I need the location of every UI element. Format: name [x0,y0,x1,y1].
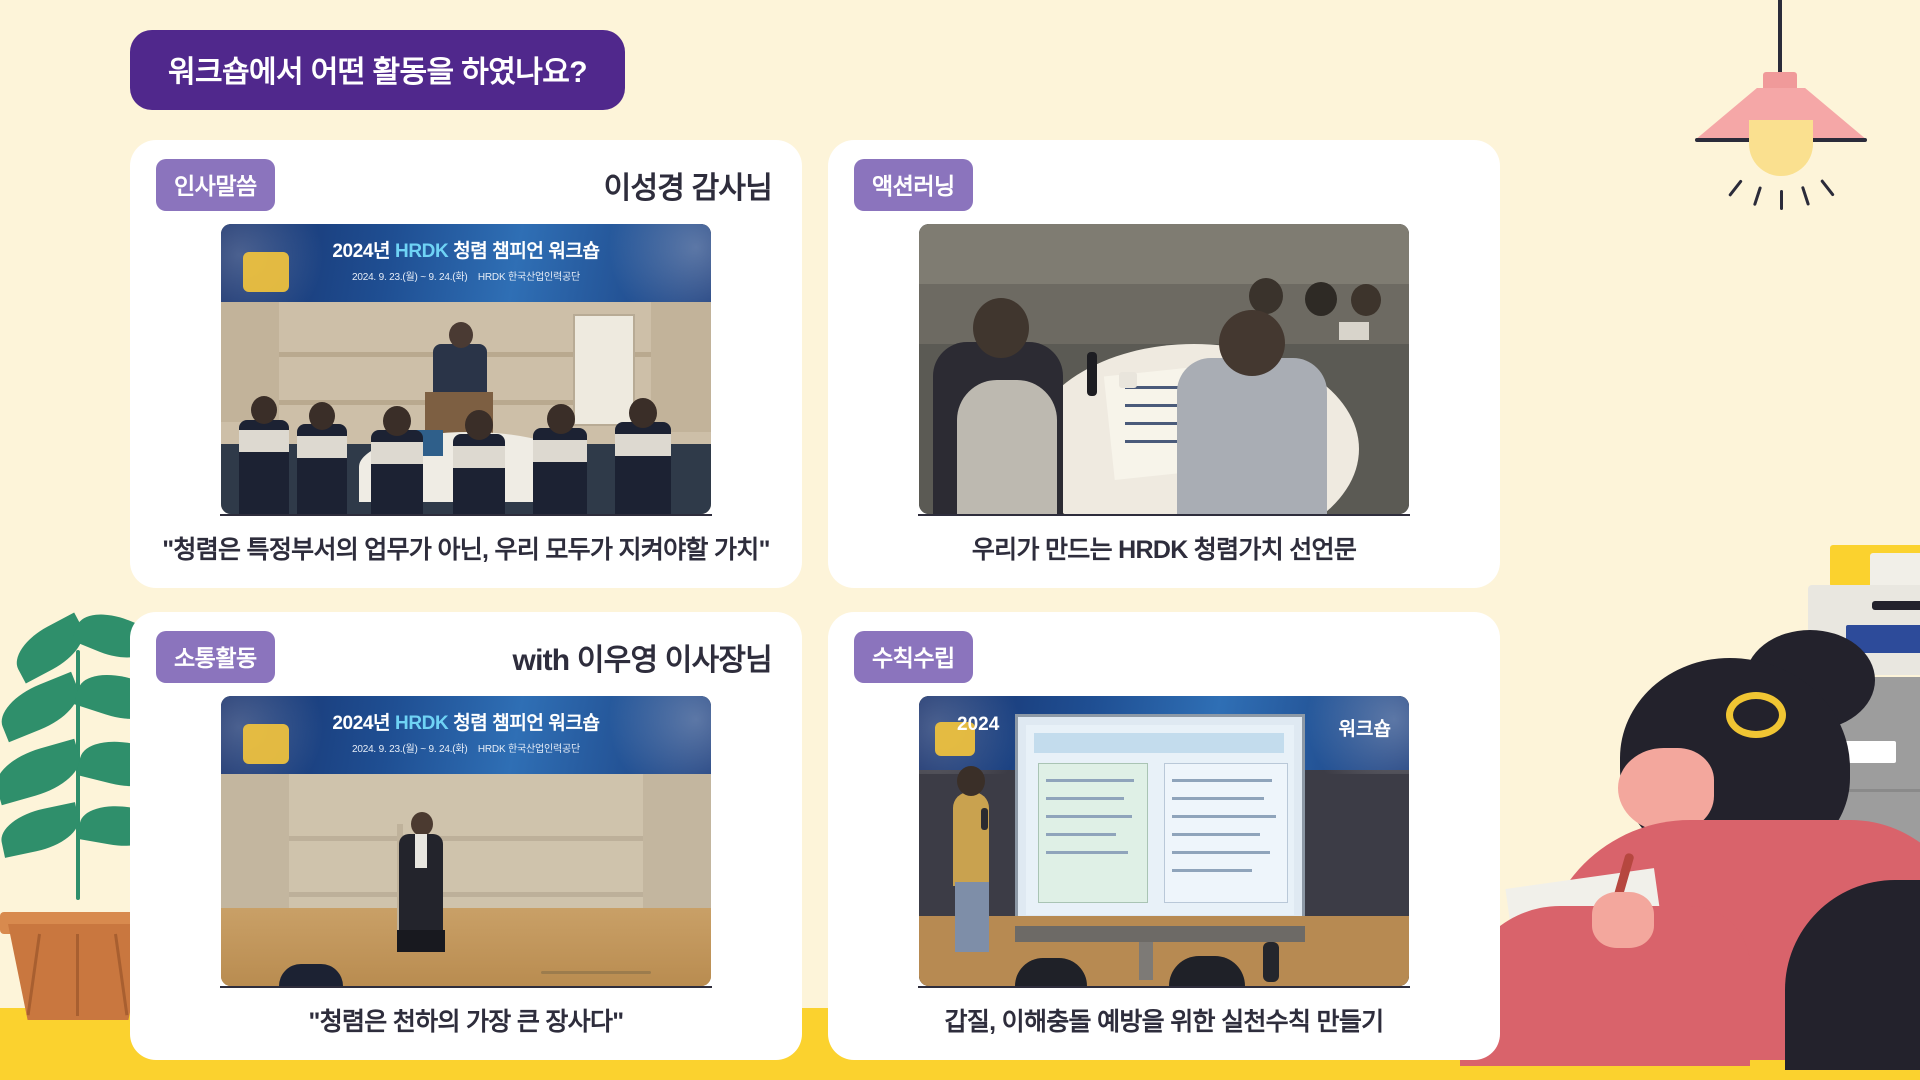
banner-org: HRDK 한국산업인력공단 [478,744,580,755]
photo-audience-head [465,410,493,440]
plant-leaf [0,672,87,742]
lamp-bulb [1749,120,1813,176]
banner-title: 청렴 챔피언 워크숍 [453,241,599,262]
banner-date: 2024. 9. 23.(월) ~ 9. 24.(화) [352,744,468,755]
card-caption: 우리가 만드는 HRDK 청렴가치 선언문 [972,530,1356,578]
screen-text-line [1172,779,1272,782]
photo-whiteboard [573,314,635,426]
photo-audience-head [251,396,277,424]
card-caption-box: 우리가 만드는 HRDK 청렴가치 선언문 [854,514,1474,578]
banner-brand: HRDK [395,713,448,734]
screen-text-line [1046,779,1134,782]
card-photo: 2024 워크숍 [919,696,1409,986]
cabinet-tray-slot [1872,601,1920,610]
lamp-ray [1728,179,1742,196]
card-badge: 액션러닝 [854,159,973,211]
cabinet-folder-white [1870,553,1920,589]
lamp-ray [1801,186,1810,206]
lamp-ray [1780,190,1783,210]
photo-chair-cover [239,430,289,452]
photo-banner: 2024년 HRDK 청렴 챔피언 워크숍 2024. 9. 23.(월) ~ … [221,224,711,302]
photo-cable [541,971,651,974]
card-caption-box: "청렴은 특정부서의 업무가 아닌, 우리 모두가 지켜야할 가치" [156,514,776,578]
card-caption: "청렴은 특정부서의 업무가 아닌, 우리 모두가 지켜야할 가치" [162,530,769,578]
card-caption: "청렴은 천하의 가장 큰 장사다" [309,1002,624,1050]
banner-brand: HRDK [395,241,448,262]
plant-pot-line [76,934,79,1016]
photo-wall-shelf [221,892,711,897]
card-title: 이성경 감사님 [604,163,776,207]
activity-card-greeting[interactable]: 인사말씀 이성경 감사님 [130,140,802,588]
photo-chair-cover [453,446,505,468]
photo-foreground-mic [1263,942,1279,982]
photo-speaker-head [449,322,473,348]
banner-title: 청렴 챔피언 워크숍 [453,713,599,734]
photo-audience-head [309,402,335,430]
card-caption-box: 갑질, 이해충돌 예방을 위한 실천수칙 만들기 [854,986,1474,1050]
photo-person-head [1305,282,1337,316]
photo-chair-cover [615,434,671,456]
card-photo [919,224,1409,514]
screen-text-line [1046,851,1128,854]
card-photo: 2024년 HRDK 청렴 챔피언 워크숍 2024. 9. 23.(월) ~ … [221,224,711,514]
caption-divider [220,986,712,988]
banner-title-line: 2024년 HRDK 청렴 챔피언 워크숍 [221,708,711,735]
photo-presenter-top [953,792,989,886]
photo-audience-head [547,404,575,434]
banner-title-line: 2024년 HRDK 청렴 챔피언 워크숍 [221,236,711,263]
banner-year: 2024년 [332,241,390,262]
photo-screen-stand [1139,942,1153,980]
activity-card-rules[interactable]: 수칙수립 2024 워크숍 [828,612,1500,1060]
screen-text-line [1046,797,1124,800]
photo-chair-cover [371,442,423,464]
banner-date: 2024. 9. 23.(월) ~ 9. 24.(화) [352,272,468,283]
activity-card-action-learning[interactable]: 액션러닝 우리가 만드는 HRDK [828,140,1500,588]
screen-text-line [1172,851,1270,854]
card-title: with 이우영 이사장님 [513,635,776,679]
photo-banner: 2024년 HRDK 청렴 챔피언 워크숍 2024. 9. 23.(월) ~ … [221,696,711,774]
banner-year: 2024 [957,714,999,736]
banner-year: 2024년 [332,713,390,734]
photo-foreground-chair [279,964,343,986]
caption-divider [918,514,1410,516]
card-badge: 소통활동 [156,631,275,683]
photo-chair-cover [533,440,587,462]
photo-presenter-head [957,766,985,796]
photo-participant [1177,358,1327,514]
screen-text-line [1046,833,1116,836]
photo-chair-cover [297,436,347,458]
card-photo: 2024년 HRDK 청렴 챔피언 워크숍 2024. 9. 23.(월) ~ … [221,696,711,986]
photo-wall-panel [221,774,289,924]
photo-speaker-head [411,812,433,836]
banner-org: HRDK 한국산업인력공단 [478,272,580,283]
photo-name-card [1339,322,1369,340]
photo-audience-head [383,406,411,436]
photo-projection-screen [1015,714,1305,926]
card-header: 소통활동 with 이우영 이사장님 [156,634,776,680]
caption-divider [220,514,712,516]
caption-divider [918,986,1410,988]
card-header: 액션러닝 [854,162,1474,208]
photo-person-head [1351,284,1381,316]
screen-title-bar [1034,733,1284,753]
plant-leaf [0,802,83,858]
photo-presenter-legs [955,882,989,952]
screen-text-line [1172,797,1264,800]
card-header: 인사말씀 이성경 감사님 [156,162,776,208]
page-title: 워크숍에서 어떤 활동을 하였나요? [130,30,625,110]
person-hair-ribbon [1726,692,1786,738]
screen-text-line [1172,833,1260,836]
activity-card-communication[interactable]: 소통활동 with 이우영 이사장님 2024년 [130,612,802,1060]
screen-text-line [1172,815,1276,818]
screen-text-line [1046,815,1132,818]
photo-cup [1119,372,1137,388]
activity-card-grid: 인사말씀 이성경 감사님 [130,140,1500,1060]
photo-screen-base [1015,926,1305,942]
card-header: 수칙수립 [854,634,1474,680]
photo-wall-panel [643,774,711,924]
photo-participant-sleeve [957,380,1057,514]
card-caption-box: "청렴은 천하의 가장 큰 장사다" [156,986,776,1050]
plant-leaf [0,739,86,806]
photo-speaker-shirt [415,834,427,868]
photo-speaker-legs [397,930,445,952]
photo-microphone [981,808,988,830]
lamp-ray [1753,186,1762,206]
person-hand [1592,892,1654,948]
photo-audience-head [629,398,657,428]
photo-wall-panel [651,302,711,432]
pendant-lamp-icon [1690,0,1870,240]
banner-title: 워크숍 [1339,714,1391,741]
card-badge: 수칙수립 [854,631,973,683]
photo-wall-shelf [221,836,711,841]
photo-participant-head [1219,310,1285,376]
banner-sub-line: 2024. 9. 23.(월) ~ 9. 24.(화) HRDK 한국산업인력공… [221,740,711,755]
photo-person-head [1249,278,1283,314]
person-writing-illustration [1540,630,1920,1050]
photo-bottle [1087,352,1097,396]
lamp-ray [1820,179,1834,196]
banner-sub-line: 2024. 9. 23.(월) ~ 9. 24.(화) HRDK 한국산업인력공… [221,268,711,283]
lamp-cord [1778,0,1782,74]
card-caption: 갑질, 이해충돌 예방을 위한 실천수칙 만들기 [945,1002,1384,1050]
photo-participant-head [973,298,1029,358]
screen-text-line [1172,869,1252,872]
card-badge: 인사말씀 [156,159,275,211]
